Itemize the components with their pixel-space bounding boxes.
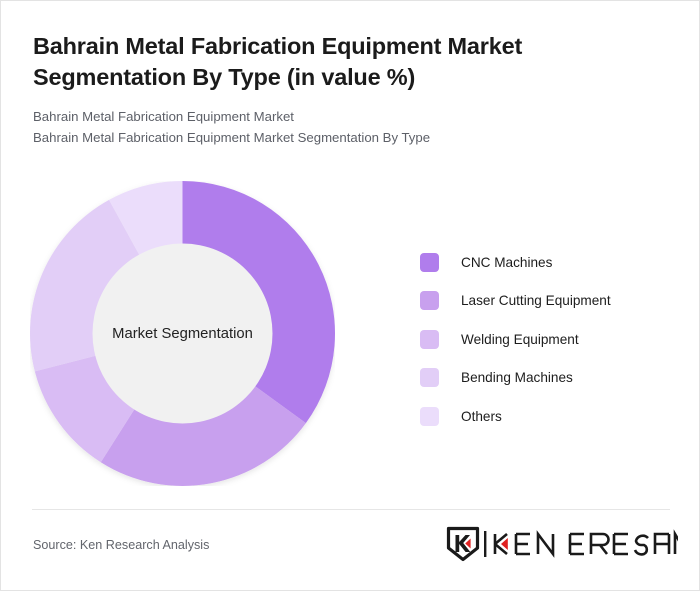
legend-item[interactable]: Others <box>420 397 670 436</box>
page-title: Bahrain Metal Fabrication Equipment Mark… <box>33 31 653 93</box>
legend-swatch-icon <box>420 330 439 349</box>
chart-legend: CNC MachinesLaser Cutting EquipmentWeldi… <box>420 243 670 436</box>
ken-research-logo <box>446 525 678 563</box>
donut-hole <box>93 244 273 424</box>
chart-page: Bahrain Metal Fabrication Equipment Mark… <box>0 0 700 591</box>
donut-chart: Market Segmentation <box>30 181 335 486</box>
legend-item[interactable]: Laser Cutting Equipment <box>420 282 670 321</box>
ken-research-shield-icon <box>446 526 480 562</box>
chart-header: Bahrain Metal Fabrication Equipment Mark… <box>33 31 653 149</box>
footer-divider <box>32 509 670 510</box>
legend-swatch-icon <box>420 407 439 426</box>
subtitle-line-2: Bahrain Metal Fabrication Equipment Mark… <box>33 128 653 149</box>
source-note: Source: Ken Research Analysis <box>33 538 209 552</box>
legend-label: Bending Machines <box>461 370 573 385</box>
legend-item[interactable]: Welding Equipment <box>420 320 670 359</box>
subtitle-block: Bahrain Metal Fabrication Equipment Mark… <box>33 107 653 149</box>
legend-swatch-icon <box>420 253 439 272</box>
subtitle-line-1: Bahrain Metal Fabrication Equipment Mark… <box>33 107 653 128</box>
legend-swatch-icon <box>420 291 439 310</box>
legend-item[interactable]: CNC Machines <box>420 243 670 282</box>
legend-item[interactable]: Bending Machines <box>420 359 670 398</box>
legend-label: CNC Machines <box>461 255 552 270</box>
donut-svg <box>30 181 335 486</box>
legend-label: Others <box>461 409 502 424</box>
legend-swatch-icon <box>420 368 439 387</box>
ken-research-wordmark <box>483 529 678 559</box>
legend-label: Laser Cutting Equipment <box>461 293 611 308</box>
legend-label: Welding Equipment <box>461 332 579 347</box>
